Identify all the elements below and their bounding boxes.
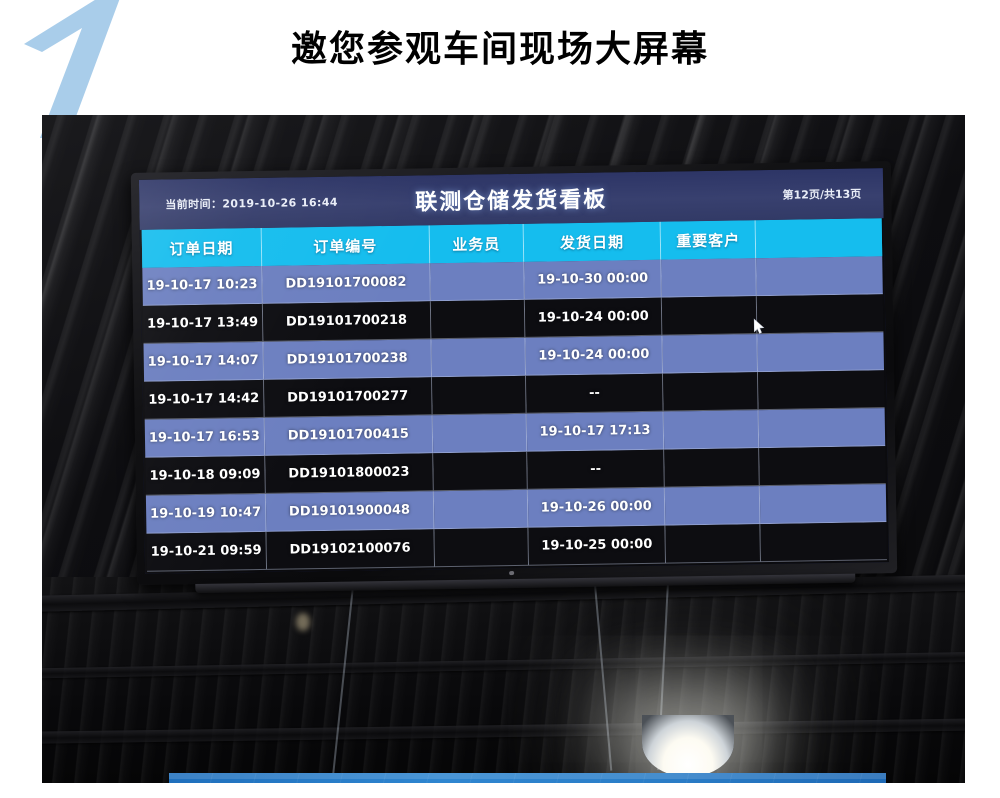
cell-vip-customer (665, 486, 760, 525)
cell-salesperson (431, 300, 526, 339)
cell-extra (758, 332, 884, 372)
column-header-order-number: 订单编号 (262, 225, 431, 266)
cell-ship-date: -- (527, 450, 665, 490)
column-header-extra (756, 218, 882, 258)
cell-vip-customer (662, 258, 757, 297)
cell-salesperson (430, 262, 525, 301)
workshop-photo: 当前时间：2019-10-26 16:44 联测仓储发货看板 第12页/共13页… (42, 115, 965, 783)
tv-bezel: 当前时间：2019-10-26 16:44 联测仓储发货看板 第12页/共13页… (131, 161, 897, 585)
cell-extra (757, 294, 883, 334)
cell-vip-customer (666, 524, 761, 563)
cell-order-number: DD19101700218 (263, 301, 432, 342)
cell-extra (760, 484, 886, 524)
cell-order-date: 19-10-17 14:42 (144, 380, 264, 420)
column-header-salesperson: 业务员 (430, 224, 525, 263)
page-indicator: 第12页/共13页 (782, 186, 861, 203)
cell-order-date: 19-10-17 10:23 (142, 266, 262, 306)
promo-banner: 您的产品已入生产系统，正在为您加快安排出货 (169, 773, 886, 783)
cell-extra (761, 522, 887, 562)
cell-order-number: DD19101700082 (262, 263, 431, 304)
column-header-ship-date: 发货日期 (523, 222, 661, 262)
cell-salesperson (432, 376, 527, 415)
cell-salesperson (434, 490, 529, 529)
dashboard-title: 联测仓储发货看板 (139, 177, 883, 221)
cell-order-date: 19-10-17 16:53 (145, 418, 265, 458)
cell-vip-customer (662, 296, 757, 335)
tv-power-led (509, 571, 514, 575)
cell-order-date: 19-10-18 09:09 (145, 456, 265, 496)
cell-extra (758, 370, 884, 410)
cell-extra (759, 408, 885, 448)
cell-vip-customer (663, 372, 758, 411)
cell-salesperson (433, 452, 528, 491)
column-header-order-date: 订单日期 (142, 228, 262, 268)
cell-ship-date: -- (526, 374, 664, 414)
cell-ship-date: 19-10-26 00:00 (528, 488, 666, 528)
cell-order-date: 19-10-19 10:47 (146, 494, 266, 534)
cell-ship-date: 19-10-25 00:00 (528, 526, 666, 566)
cell-order-date: 19-10-17 14:07 (143, 342, 263, 382)
tv-screen: 当前时间：2019-10-26 16:44 联测仓储发货看板 第12页/共13页… (139, 168, 889, 574)
ceiling-fixture (296, 613, 310, 631)
cell-order-number: DD19101800023 (265, 453, 434, 494)
cell-vip-customer (664, 410, 759, 449)
cell-salesperson (432, 414, 527, 453)
cell-salesperson (434, 528, 529, 567)
cell-vip-customer (665, 448, 760, 487)
cell-ship-date: 19-10-17 17:13 (526, 412, 664, 452)
cell-extra (759, 446, 885, 486)
cell-order-number: DD19101700277 (264, 377, 433, 418)
warehouse-dashboard: 当前时间：2019-10-26 16:44 联测仓储发货看板 第12页/共13页… (139, 168, 889, 574)
cell-vip-customer (663, 334, 758, 373)
wall-mounted-tv: 当前时间：2019-10-26 16:44 联测仓储发货看板 第12页/共13页… (131, 161, 897, 585)
column-header-vip-customer: 重要客户 (661, 220, 756, 259)
cell-salesperson (431, 338, 526, 377)
cell-order-number: DD19101700415 (265, 415, 434, 456)
cell-ship-date: 19-10-30 00:00 (524, 260, 662, 300)
cell-order-number: DD19102100076 (266, 529, 435, 570)
cell-order-date: 19-10-21 09:59 (146, 532, 266, 572)
page-title: 邀您参观车间现场大屏幕 (0, 28, 1000, 71)
shipment-table: 订单日期 订单编号 业务员 发货日期 重要客户 19-10-17 10:23 D… (140, 218, 889, 574)
cell-ship-date: 19-10-24 00:00 (525, 298, 663, 338)
cell-extra (756, 256, 882, 296)
cell-ship-date: 19-10-24 00:00 (525, 336, 663, 376)
cell-order-number: DD19101700238 (263, 339, 432, 380)
cell-order-date: 19-10-17 13:49 (143, 304, 263, 344)
cell-order-number: DD19101900048 (266, 491, 435, 532)
